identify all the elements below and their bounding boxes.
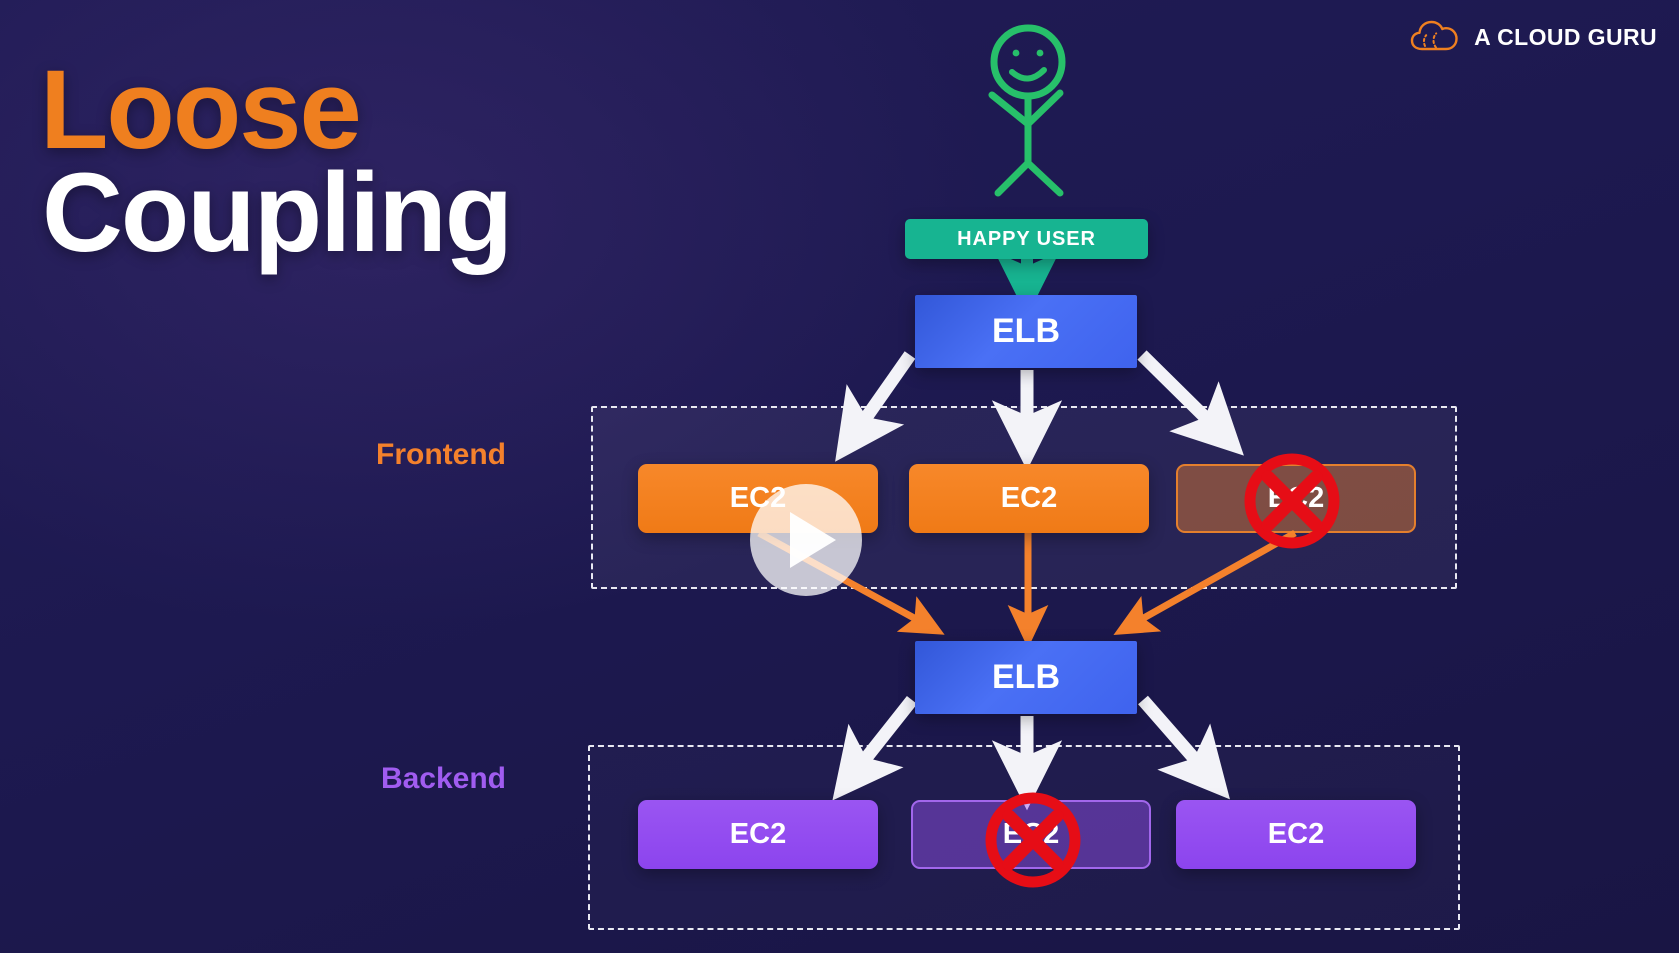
- slide-canvas: A CLOUD GURU Loose Coupling Frontend Bac…: [0, 0, 1679, 953]
- play-button[interactable]: [750, 484, 862, 596]
- video-player-overlay: [0, 0, 1679, 953]
